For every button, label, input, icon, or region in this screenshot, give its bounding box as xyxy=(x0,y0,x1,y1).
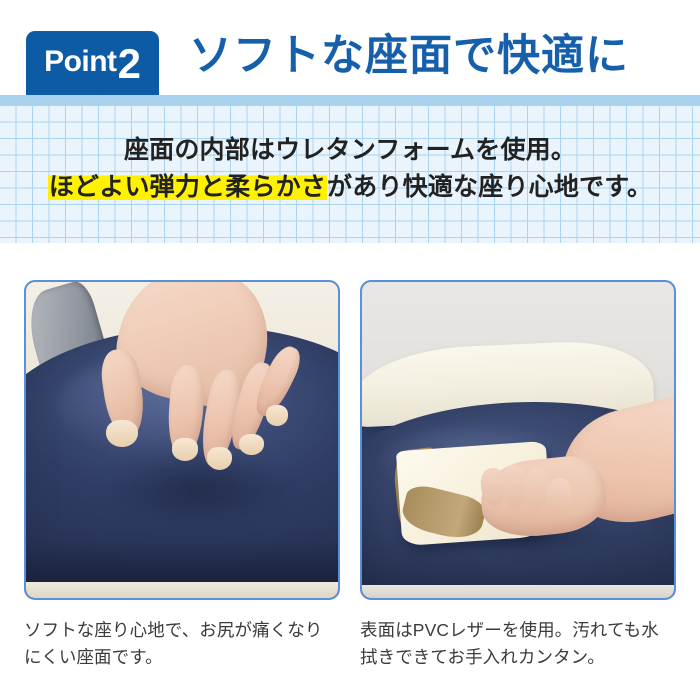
description-band: 座面の内部はウレタンフォームを使用。 ほどよい弾力と柔らかさがあり快適な座り心地… xyxy=(0,95,700,243)
nail-middle xyxy=(207,447,232,470)
page-title: ソフトな座面で快適に xyxy=(189,25,629,87)
nail-thumb xyxy=(106,420,137,447)
description-line-1: 座面の内部はウレタンフォームを使用。 xyxy=(124,135,576,166)
floor-strip xyxy=(362,585,674,598)
photo-panels: ソフトな座り心地で、お尻が痛くなりにくい座面です。 表 xyxy=(0,243,700,700)
highlighted-phrase: ほどよい弾力と柔らかさ xyxy=(48,173,327,201)
hand-graphic xyxy=(88,282,313,478)
panel-left: ソフトな座り心地で、お尻が痛くなりにくい座面です。 xyxy=(24,280,340,700)
photo-artwork-left xyxy=(26,282,338,598)
nail-index xyxy=(172,438,199,461)
caption-right: 表面はPVCレザーを使用。汚れても水拭きできてお手入れカンタン。 xyxy=(360,617,676,670)
page-header: Point 2 ソフトな座面で快適に xyxy=(0,0,700,95)
caption-left: ソフトな座り心地で、お尻が痛くなりにくい座面です。 xyxy=(24,617,340,670)
wiping-seat-with-cloth-photo xyxy=(360,280,676,600)
point-badge-word: Point xyxy=(44,47,117,77)
nail-little xyxy=(266,405,288,426)
photo-artwork-right xyxy=(362,282,674,598)
description-line-2: ほどよい弾力と柔らかさがあり快適な座り心地です。 xyxy=(48,172,652,203)
point-badge-number: 2 xyxy=(118,43,141,85)
point-badge: Point 2 xyxy=(26,31,159,95)
description-line-2-rest: があり快適な座り心地です。 xyxy=(327,173,652,201)
floor-strip xyxy=(26,582,338,598)
panel-right: 表面はPVCレザーを使用。汚れても水拭きできてお手入れカンタン。 xyxy=(360,280,676,700)
hand-pressing-seat-photo xyxy=(24,280,340,600)
description-text-block: 座面の内部はウレタンフォームを使用。 ほどよい弾力と柔らかさがあり快適な座り心地… xyxy=(0,95,700,243)
nail-ring xyxy=(239,434,264,455)
